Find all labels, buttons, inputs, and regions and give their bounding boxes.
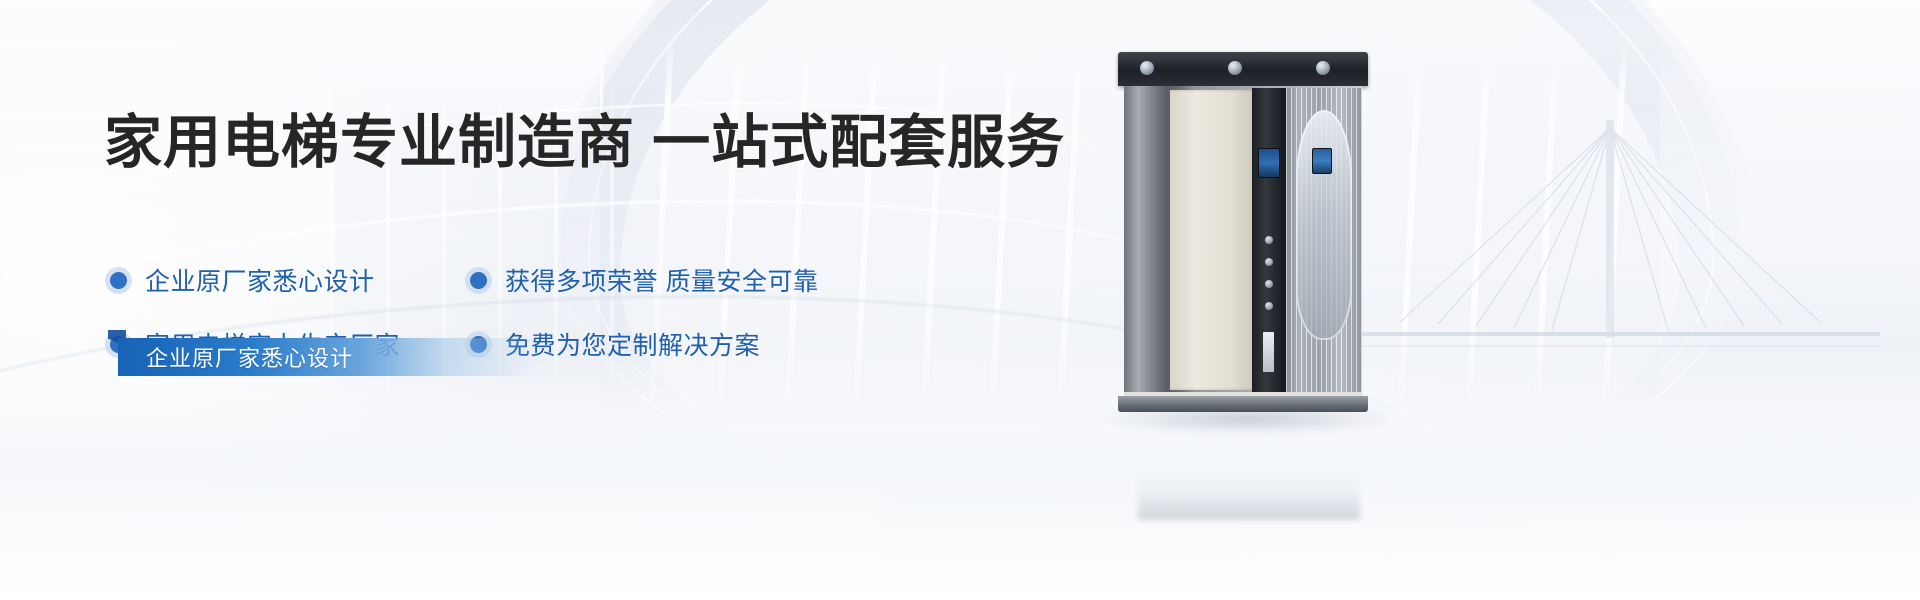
blue-dot-icon [470, 272, 487, 289]
ribbon-bar: 企业原厂家悉心设计 [118, 338, 538, 376]
ribbon-label: 企业原厂家悉心设计 [146, 341, 353, 373]
handrail-strip [1263, 332, 1274, 372]
elevator-frame [1124, 86, 1362, 406]
call-button-icon [1265, 302, 1273, 310]
ceiling-light-icon [1228, 61, 1242, 75]
call-button-icon [1265, 258, 1273, 266]
cable-bridge-illustration [1360, 110, 1880, 410]
page-title: 家用电梯专业制造商 一站式配套服务 [104, 114, 1065, 172]
elevator-base-sill [1118, 396, 1368, 412]
call-button-icon [1265, 236, 1273, 244]
elevator-left-jamb [1124, 86, 1170, 406]
feature-label: 免费为您定制解决方案 [505, 326, 760, 362]
feature-item-1: 企业原厂家悉心设计 [110, 262, 470, 298]
promotional-banner: 家用电梯专业制造商 一站式配套服务 企业原厂家悉心设计 获得多项荣誉 质量安全可… [0, 0, 1920, 600]
feature-label: 获得多项荣誉 质量安全可靠 [505, 262, 818, 298]
elevator-door-panel [1170, 90, 1256, 390]
elevator-reflection [1138, 466, 1360, 520]
home-elevator-image [1124, 52, 1362, 414]
elevator-cabin-interior [1286, 88, 1362, 392]
ceiling-light-icon [1316, 61, 1330, 75]
feature-item-2: 获得多项荣誉 质量安全可靠 [470, 262, 870, 298]
blue-dot-icon [110, 272, 127, 289]
cabin-oval-glass [1296, 110, 1352, 340]
floor-sheen [0, 390, 1920, 600]
floor-display-icon [1258, 148, 1280, 178]
call-button-group [1265, 236, 1273, 314]
call-button-icon [1265, 280, 1273, 288]
feature-label: 企业原厂家悉心设计 [145, 262, 375, 298]
ceiling-light-icon [1140, 61, 1154, 75]
elevator-header-beam [1118, 52, 1368, 86]
cabin-display-icon [1312, 148, 1332, 174]
